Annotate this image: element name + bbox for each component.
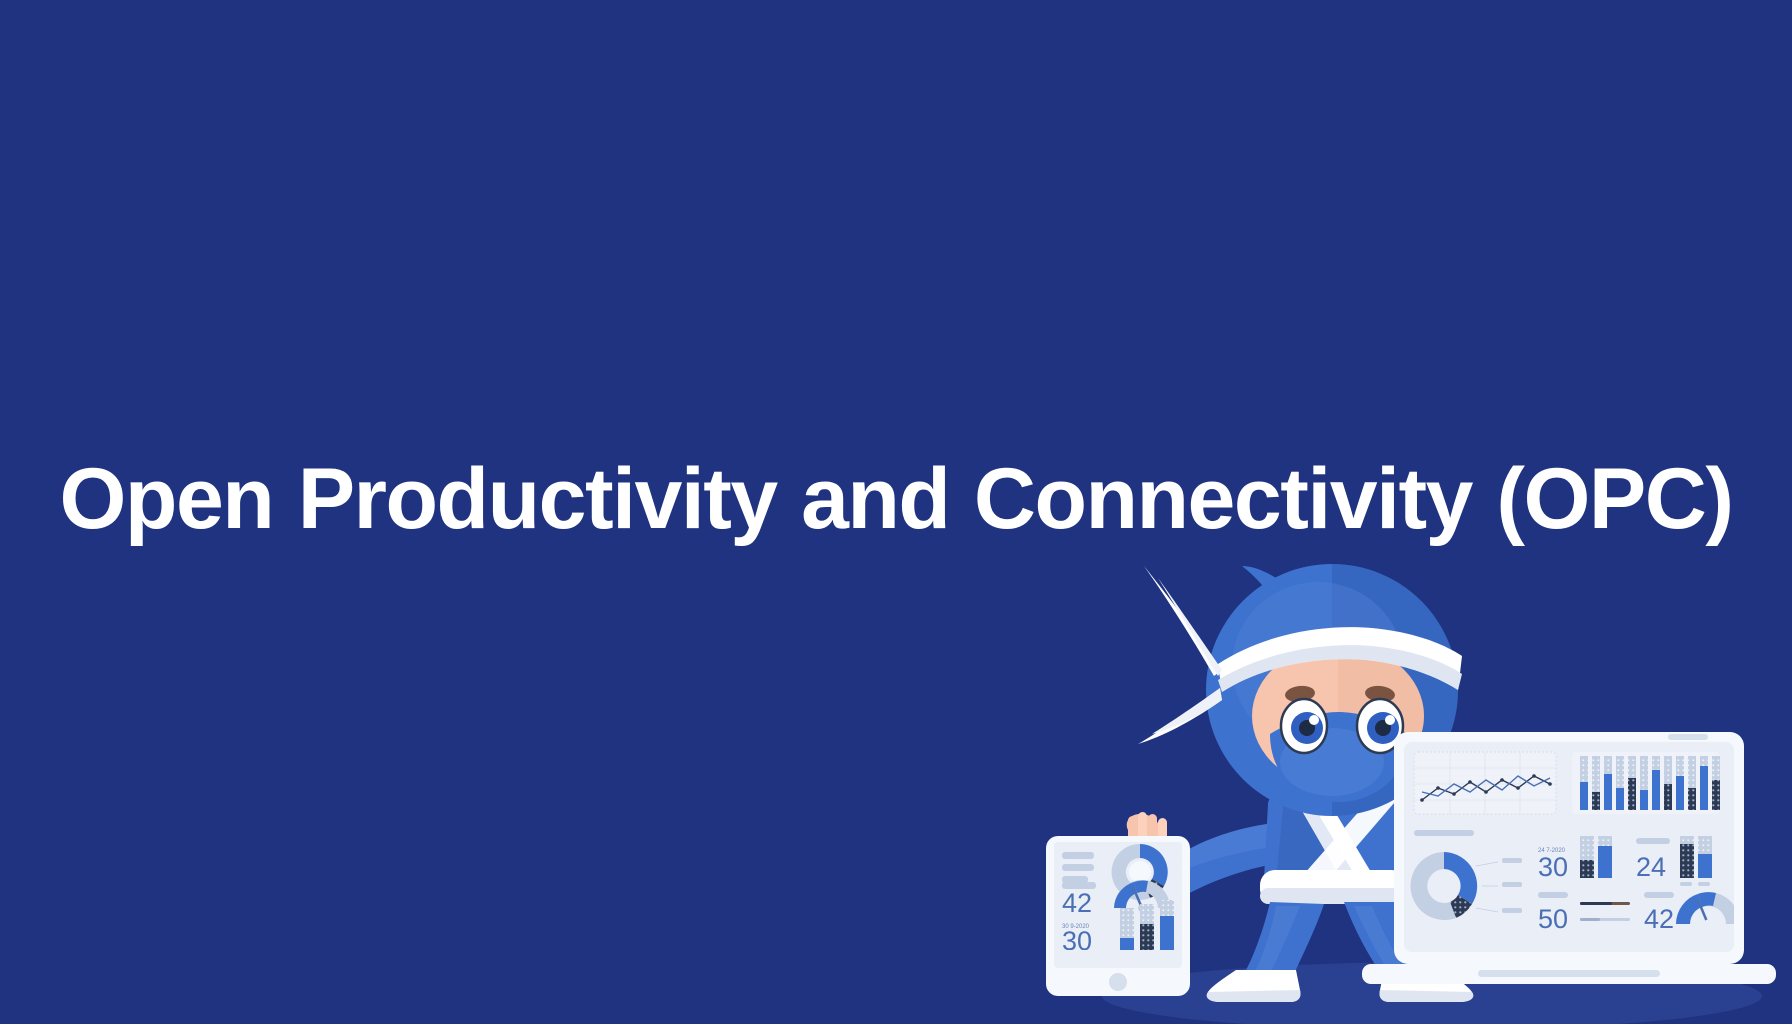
laptop-kpi-30: 24 7-2020 30 [1538, 848, 1568, 882]
svg-text:24: 24 [1636, 852, 1666, 882]
slide-canvas: Open Productivity and Connectivity (OPC) [0, 0, 1792, 1024]
left-eye [1281, 699, 1327, 753]
svg-text:42: 42 [1644, 904, 1674, 934]
svg-text:30: 30 [1538, 852, 1568, 882]
laptop-line-chart [1414, 752, 1556, 814]
ninja-analytics-illustration: 42 30 9-2020 30 [1032, 504, 1792, 1024]
smartphone: 42 30 9-2020 30 [1046, 836, 1190, 996]
laptop-bar-chart [1572, 752, 1720, 814]
phone-home-button [1109, 973, 1127, 991]
svg-text:42: 42 [1062, 888, 1092, 918]
laptop: 24 7-2020 30 24 [1362, 732, 1776, 984]
svg-text:50: 50 [1538, 904, 1568, 934]
